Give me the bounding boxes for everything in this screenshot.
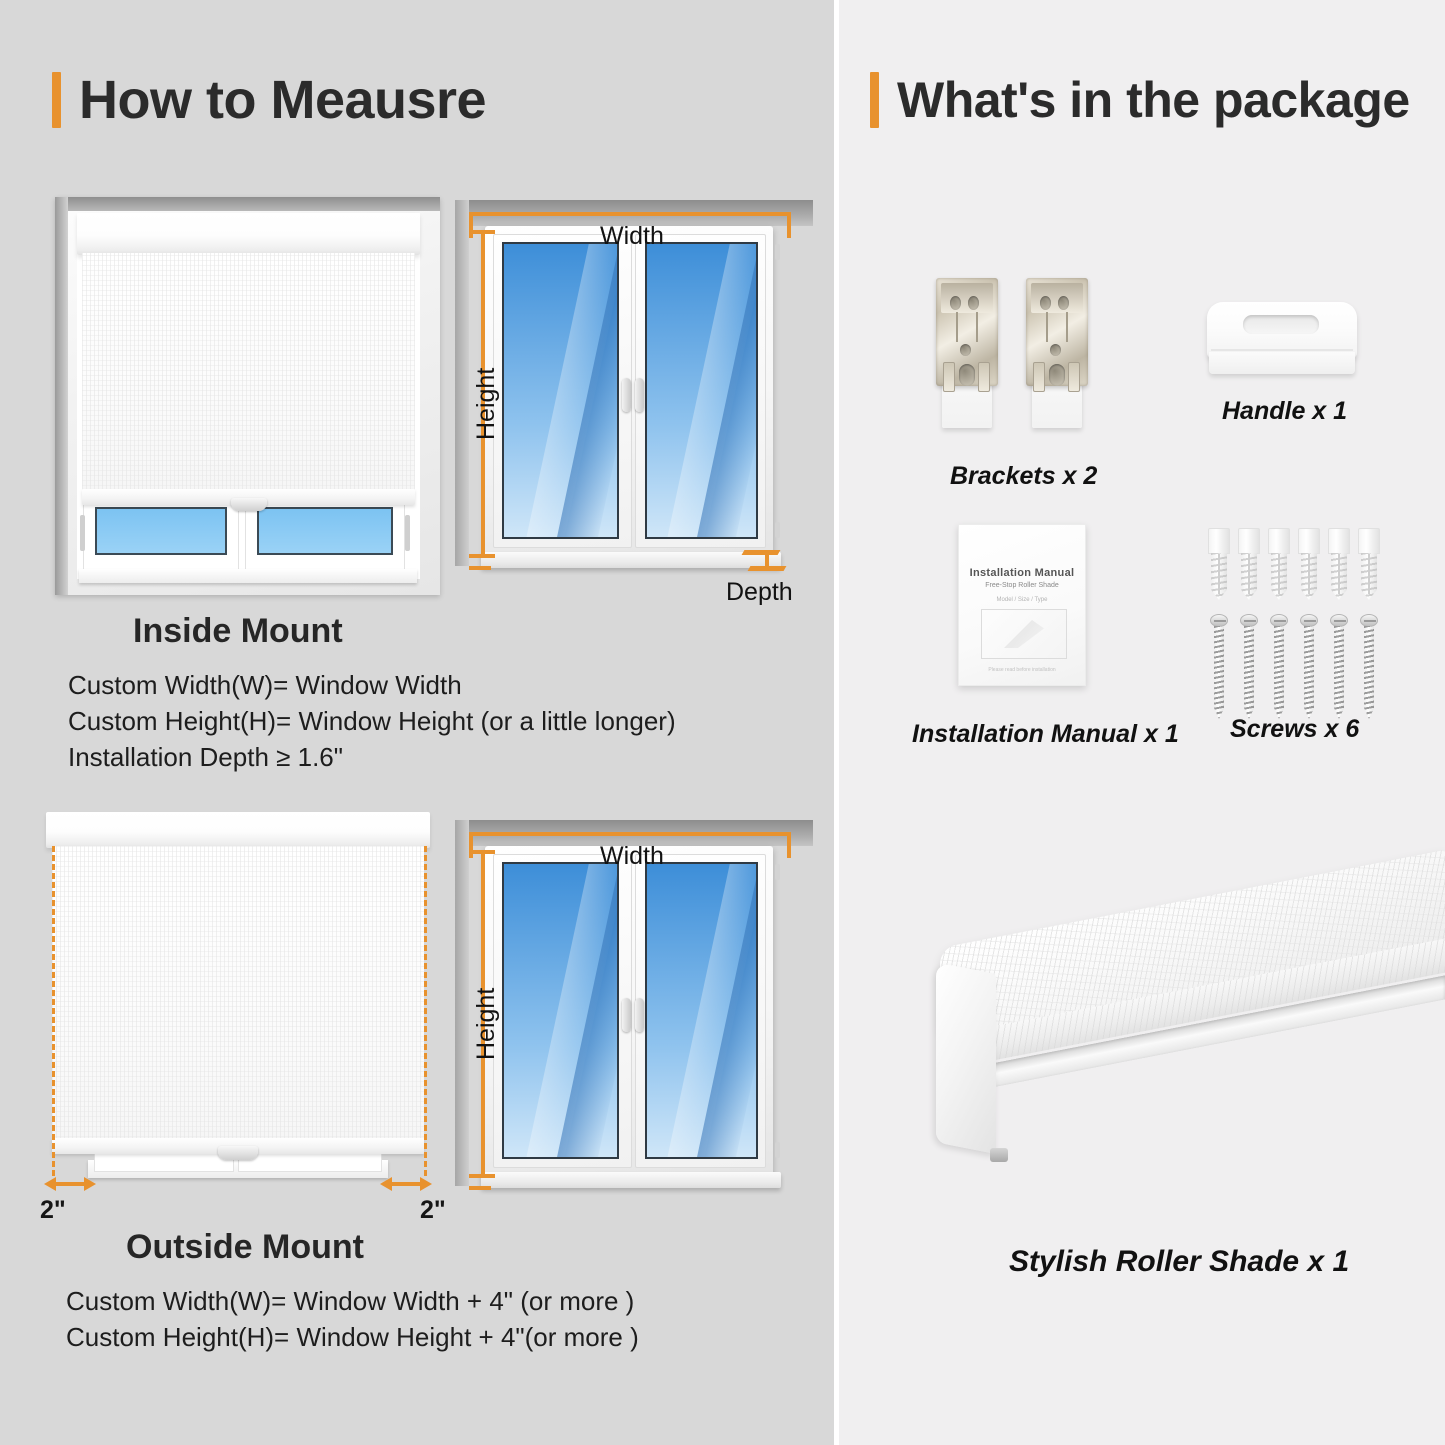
bracket-hole <box>1040 296 1051 310</box>
inside-mount-window-diagram <box>455 200 817 600</box>
window-recess-left <box>455 820 469 1186</box>
bracket-slot <box>943 362 955 392</box>
bracket-hole <box>959 364 975 386</box>
overhang-right-label: 2" <box>420 1196 446 1225</box>
overhang-left-label: 2" <box>40 1196 66 1225</box>
window-sill <box>79 569 417 583</box>
frame-left-shadow <box>55 197 68 595</box>
roller-shade-label: Stylish Roller Shade x 1 <box>1009 1245 1349 1279</box>
window-recess-left <box>455 200 469 566</box>
shade-end-cap <box>936 962 996 1154</box>
wall-anchor-icon <box>1268 528 1290 600</box>
manual-cover-subtitle: Free-Stop Roller Shade <box>959 582 1085 589</box>
width-dimension-cap-right <box>787 212 791 238</box>
handle-base <box>1209 352 1355 374</box>
wall-anchor-icon <box>1298 528 1320 600</box>
accent-bar-icon <box>52 72 61 128</box>
screw-icon <box>1270 614 1288 719</box>
shade-end-pin <box>990 1148 1008 1162</box>
brackets-label: Brackets x 2 <box>950 462 1097 491</box>
package-heading: What's in the package <box>870 72 1410 128</box>
window-hinge-bottom <box>775 1142 780 1158</box>
outside-mount-spec-2: Custom Height(H)= Window Height + 4"(or … <box>66 1322 639 1353</box>
width-dimension-cap-left <box>469 832 473 858</box>
overhang-guide-right <box>424 846 427 1176</box>
width-dimension-cap-right <box>787 832 791 858</box>
outside-mount-spec-1: Custom Width(W)= Window Width + 4" (or m… <box>66 1286 634 1317</box>
bracket-icon <box>936 278 998 428</box>
handle-label: Handle x 1 <box>1222 397 1347 426</box>
window-handle-left <box>622 998 631 1032</box>
handle-icon <box>1207 302 1357 378</box>
infographic-page: How to Meausre What's in the package <box>0 0 1445 1445</box>
shade-fabric <box>52 846 424 1142</box>
window-sill <box>481 552 781 568</box>
package-title: What's in the package <box>897 75 1410 125</box>
overhang-arrow-left <box>44 1176 96 1192</box>
depth-dimension-top <box>742 550 781 555</box>
window-hinge-left <box>80 515 85 551</box>
height-dimension-cap-top <box>469 230 495 234</box>
height-dimension-base <box>469 566 491 570</box>
outside-mount-window-diagram <box>455 820 817 1220</box>
overhang-arrow-right <box>380 1176 432 1192</box>
window-glass-right <box>257 507 393 555</box>
manual-icon: Installation Manual Free-Stop Roller Sha… <box>958 524 1086 686</box>
how-to-measure-title: How to Meausre <box>79 73 486 127</box>
how-to-measure-heading: How to Meausre <box>52 72 486 128</box>
manual-label: Installation Manual x 1 <box>912 720 1179 749</box>
window-hinge-top <box>775 244 780 260</box>
shade-pull-handle <box>231 498 267 511</box>
bracket-icon <box>1026 278 1088 428</box>
bracket-hole <box>1049 364 1065 386</box>
bracket-hole <box>950 296 961 310</box>
shade-fabric <box>82 253 415 491</box>
window-glass-left <box>502 862 619 1159</box>
manual-cover-footer: Please read before installation <box>959 667 1085 673</box>
roller-shade-icon <box>900 890 1445 1220</box>
outside-mount-shade-illustration <box>38 812 438 1204</box>
window-hinge-bottom <box>775 522 780 538</box>
overhang-guide-left <box>52 846 55 1176</box>
handle-grip-slot <box>1243 315 1319 334</box>
window-glass-right <box>645 242 758 539</box>
shade-pull-handle <box>218 1146 258 1160</box>
inside-mount-spec-2: Custom Height(H)= Window Height (or a li… <box>68 706 676 737</box>
outside-mount-title: Outside Mount <box>126 1228 364 1267</box>
bracket-slot <box>978 362 990 392</box>
accent-bar-icon <box>870 72 879 128</box>
manual-cover-figure <box>981 609 1067 659</box>
width-dimension-line <box>469 832 791 836</box>
window-handle-right <box>635 378 644 412</box>
wall-anchor-icon <box>1238 528 1260 600</box>
outside-height-label: Height <box>472 988 501 1060</box>
window-sill <box>481 1172 781 1188</box>
bracket-slot <box>1033 362 1045 392</box>
manual-cover-meta: Model / Size / Type <box>959 597 1085 603</box>
wall-anchor-icon <box>1328 528 1350 600</box>
inside-height-label: Height <box>472 368 501 440</box>
screw-icon <box>1210 614 1228 719</box>
inside-width-label: Width <box>600 222 664 251</box>
window-glass-right <box>645 862 758 1159</box>
bracket-hole <box>960 344 971 356</box>
window-handle-left <box>622 378 631 412</box>
window-handle-right <box>635 998 644 1032</box>
window-hinge-right <box>405 515 410 551</box>
window-glass-left <box>95 507 227 555</box>
frame-top-shadow <box>55 197 440 211</box>
bracket-slot <box>1068 362 1080 392</box>
inside-depth-label: Depth <box>726 578 793 607</box>
screw-icon <box>1240 614 1258 719</box>
outside-width-label: Width <box>600 842 664 871</box>
bracket-hole <box>968 296 979 310</box>
screw-icon <box>1360 614 1378 719</box>
height-dimension-base <box>469 1186 491 1190</box>
inside-mount-shade-illustration <box>55 197 440 595</box>
inside-mount-spec-3: Installation Depth ≥ 1.6" <box>68 742 343 773</box>
height-dimension-cap-bottom <box>469 1174 495 1178</box>
depth-dimension-line <box>765 552 769 568</box>
screw-icon <box>1330 614 1348 719</box>
bracket-hole <box>1050 344 1061 356</box>
bracket-hole <box>1058 296 1069 310</box>
window-glass-left <box>502 242 619 539</box>
width-dimension-cap-left <box>469 212 473 238</box>
shade-valance <box>46 812 430 848</box>
height-dimension-cap-bottom <box>469 554 495 558</box>
wall-anchor-icon <box>1208 528 1230 600</box>
window-hinge-top <box>775 864 780 880</box>
manual-cover-title: Installation Manual <box>959 567 1085 579</box>
inside-mount-title: Inside Mount <box>133 612 343 651</box>
width-dimension-line <box>469 212 791 216</box>
height-dimension-cap-top <box>469 850 495 854</box>
wall-anchor-icon <box>1358 528 1380 600</box>
shade-valance <box>77 213 420 255</box>
screw-icon <box>1300 614 1318 719</box>
screws-label: Screws x 6 <box>1230 715 1359 744</box>
inside-mount-spec-1: Custom Width(W)= Window Width <box>68 670 462 701</box>
